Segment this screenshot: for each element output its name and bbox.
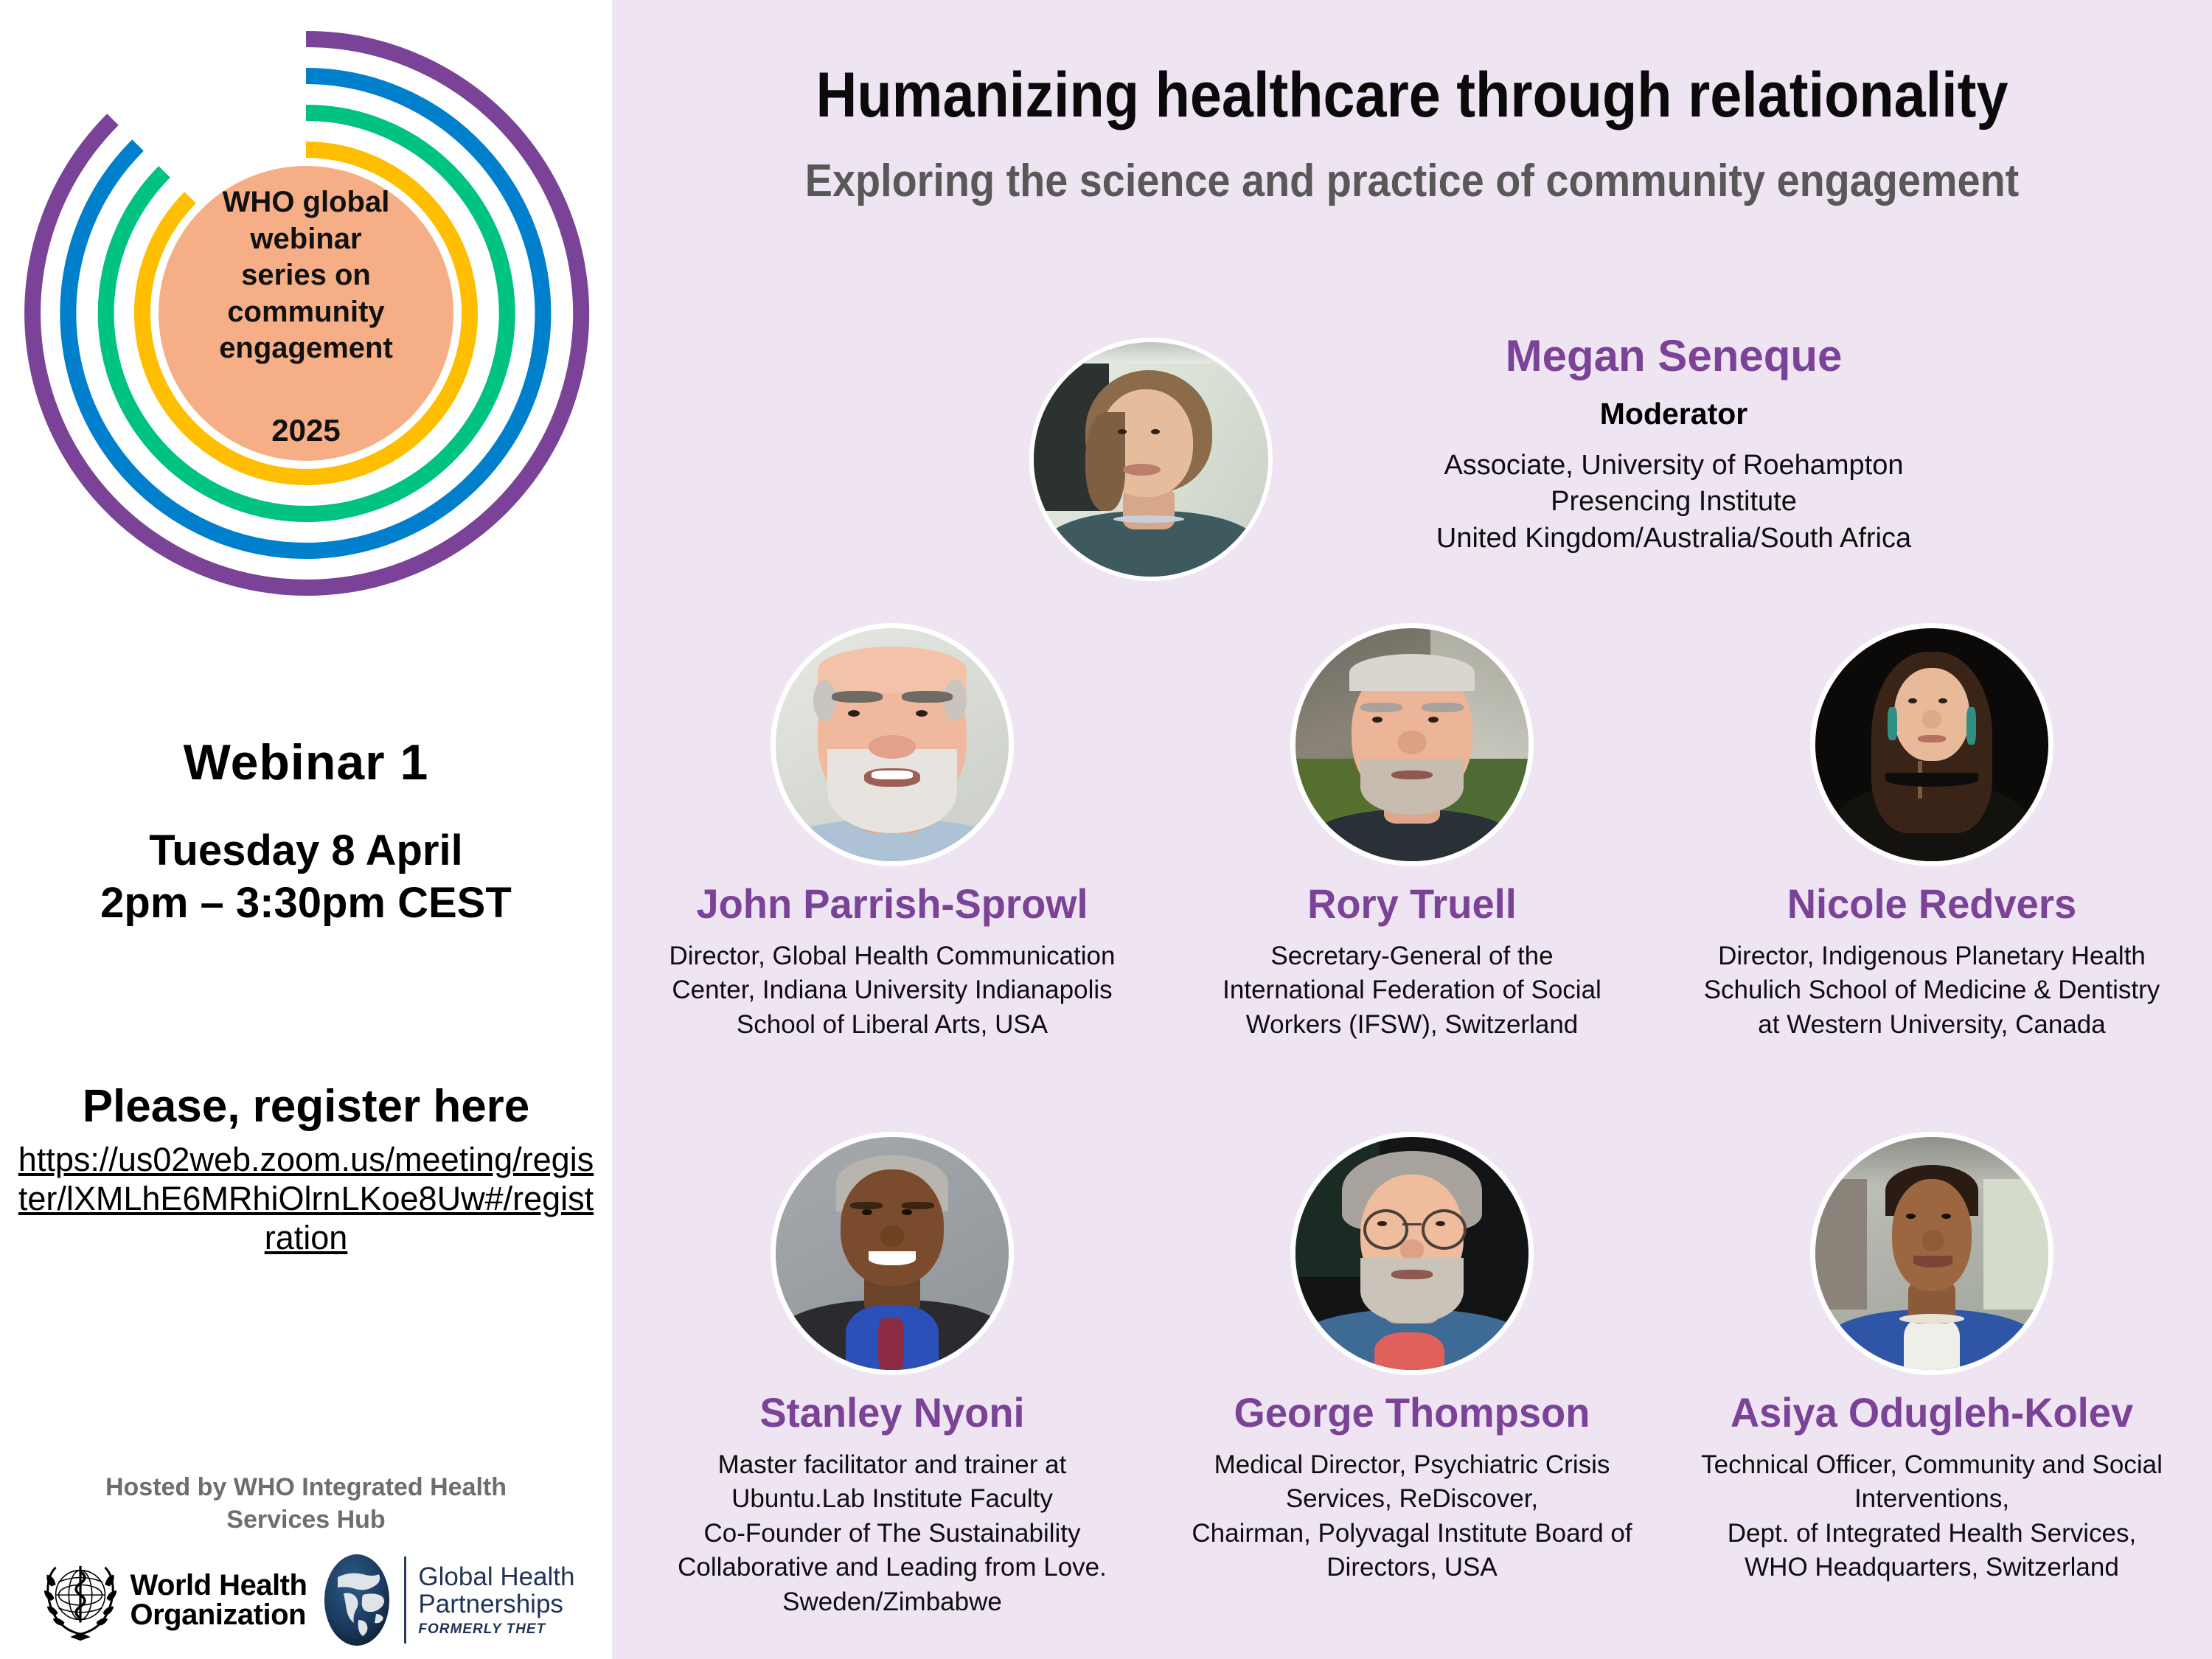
speaker-name: Asiya Odugleh-Kolev xyxy=(1682,1391,2183,1435)
speaker-affiliation: Technical Officer, Community and Social … xyxy=(1674,1448,2190,1585)
right-panel: Humanizing healthcare through relational… xyxy=(612,0,2212,1659)
speaker-name: Rory Truell xyxy=(1162,883,1663,926)
speaker-card: Stanley Nyoni Master facilitator and tra… xyxy=(634,1132,1150,1620)
moderator-affiliation: Associate, University of Roehampton Pres… xyxy=(1290,448,2057,557)
speaker-affiliation-line-3: Co-Founder of The Sustainability xyxy=(641,1517,1143,1551)
page-subtitle: Exploring the science and practice of co… xyxy=(692,155,2132,207)
ghp-line-1: Global Health xyxy=(418,1563,574,1590)
speaker-name: George Thompson xyxy=(1162,1391,1663,1435)
moderator-affiliation-line-1: Associate, University of Roehampton xyxy=(1290,448,2057,484)
speaker-card: Nicole Redvers Director, Indigenous Plan… xyxy=(1674,623,2190,1042)
speaker-card: George Thompson Medical Director, Psychi… xyxy=(1154,1132,1670,1585)
webinar-datetime: Tuesday 8 April 2pm – 3:30pm CEST xyxy=(0,825,612,930)
speaker-affiliation: Master facilitator and trainer at Ubuntu… xyxy=(634,1448,1150,1620)
speaker-affiliation-line-3: Chairman, Polyvagal Institute Board of xyxy=(1161,1517,1663,1551)
speaker-affiliation-line-4: Collaborative and Leading from Love. xyxy=(641,1551,1143,1585)
speaker-card: John Parrish-Sprowl Director, Global Hea… xyxy=(634,623,1150,1042)
globe-icon xyxy=(321,1552,392,1648)
register-heading: Please, register here xyxy=(0,1080,612,1133)
logo-text-line-5: engagement xyxy=(159,330,453,367)
speaker-affiliation-line-1: Medical Director, Psychiatric Crisis xyxy=(1161,1448,1663,1483)
ghp-line-2: Partnerships xyxy=(418,1590,574,1618)
speaker-affiliation-line-2: Ubuntu.Lab Institute Faculty xyxy=(641,1482,1143,1517)
logo-text-line-3: series on xyxy=(159,257,453,294)
speaker-affiliation-line-2: Interventions, xyxy=(1681,1482,2183,1517)
moderator-role: Moderator xyxy=(1290,397,2057,431)
moderator-name: Megan Seneque xyxy=(1290,332,2057,380)
page-title: Humanizing healthcare through relational… xyxy=(692,59,2132,132)
webinar-number: Webinar 1 xyxy=(0,734,612,791)
speaker-name: John Parrish-Sprowl xyxy=(642,883,1143,926)
who-emblem-icon xyxy=(37,1553,124,1647)
speaker-name: Stanley Nyoni xyxy=(642,1391,1143,1435)
ghp-wordmark: Global Health Partnerships FORMERLY THET xyxy=(418,1563,574,1638)
partner-logos: World Health Organization xyxy=(0,1552,612,1648)
logo-text-line-1: WHO global xyxy=(159,184,453,221)
left-panel: WHO global webinar series on community e… xyxy=(0,0,612,1659)
hosted-by-text: Hosted by WHO Integrated Health Services… xyxy=(0,1471,612,1536)
speaker-affiliation-line-2: Center, Indiana University Indianapolis xyxy=(641,973,1143,1008)
ghp-tagline: FORMERLY THET xyxy=(418,1621,574,1638)
registration-block: Please, register here https://us02web.zo… xyxy=(0,1080,612,1257)
logo-text-line-2: webinar xyxy=(159,221,453,258)
speaker-photo xyxy=(771,1132,1014,1375)
logo-divider xyxy=(404,1557,406,1644)
speaker-name: Nicole Redvers xyxy=(1682,883,2183,926)
webinar-poster: WHO global webinar series on community e… xyxy=(0,0,2212,1659)
speaker-affiliation-line-2: Schulich School of Medicine & Dentistry xyxy=(1681,973,2183,1008)
moderator-info: Megan Seneque Moderator Associate, Unive… xyxy=(1290,332,2057,557)
who-wordmark-line-2: Organization xyxy=(130,1600,307,1630)
hosted-by-block: Hosted by WHO Integrated Health Services… xyxy=(0,1471,612,1648)
speaker-photo xyxy=(1290,1132,1534,1375)
registration-link[interactable]: https://us02web.zoom.us/meeting/register… xyxy=(15,1140,597,1257)
who-wordmark: World Health Organization xyxy=(130,1571,307,1631)
speaker-affiliation-line-3: Workers (IFSW), Switzerland xyxy=(1161,1008,1663,1043)
webinar-date: Tuesday 8 April xyxy=(0,825,612,877)
speaker-affiliation: Director, Global Health Communication Ce… xyxy=(634,939,1150,1043)
speaker-affiliation-line-3: at Western University, Canada xyxy=(1681,1008,2183,1043)
who-wordmark-line-1: World Health xyxy=(130,1571,307,1601)
speaker-photo xyxy=(1810,1132,2053,1375)
speaker-affiliation-line-5: Sweden/Zimbabwe xyxy=(641,1585,1143,1620)
speaker-affiliation: Director, Indigenous Planetary Health Sc… xyxy=(1674,939,2190,1043)
speaker-affiliation-line-3: School of Liberal Arts, USA xyxy=(641,1008,1143,1043)
logo-year: 2025 xyxy=(159,413,453,448)
speaker-affiliation-line-1: Secretary-General of the xyxy=(1161,939,1663,974)
speaker-affiliation: Medical Director, Psychiatric Crisis Ser… xyxy=(1154,1448,1670,1585)
speaker-affiliation-line-1: Director, Global Health Communication xyxy=(641,939,1143,974)
speaker-affiliation-line-2: International Federation of Social xyxy=(1161,973,1663,1008)
webinar-series-logo: WHO global webinar series on community e… xyxy=(18,18,594,608)
speaker-affiliation-line-1: Director, Indigenous Planetary Health xyxy=(1681,939,2183,974)
speaker-affiliation-line-4: WHO Headquarters, Switzerland xyxy=(1681,1551,2183,1585)
moderator-block: Megan Seneque Moderator Associate, Unive… xyxy=(612,324,2212,605)
speaker-affiliation-line-1: Master facilitator and trainer at xyxy=(641,1448,1143,1483)
moderator-affiliation-line-2: Presencing Institute xyxy=(1290,484,2057,520)
hosted-by-line-2: Services Hub xyxy=(0,1503,612,1536)
speaker-affiliation-line-4: Directors, USA xyxy=(1161,1551,1663,1585)
speaker-card: Rory Truell Secretary-General of the Int… xyxy=(1154,623,1670,1042)
hosted-by-line-1: Hosted by WHO Integrated Health xyxy=(0,1471,612,1503)
speaker-photo xyxy=(771,623,1014,866)
speakers-grid: John Parrish-Sprowl Director, Global Hea… xyxy=(612,623,2212,1659)
moderator-affiliation-line-3: United Kingdom/Australia/South Africa xyxy=(1290,521,2057,557)
logo-text-line-4: community xyxy=(159,294,453,331)
webinar-time: 2pm – 3:30pm CEST xyxy=(0,877,612,930)
webinar-info: Webinar 1 Tuesday 8 April 2pm – 3:30pm C… xyxy=(0,734,612,930)
speaker-photo xyxy=(1810,623,2053,866)
speaker-affiliation-line-1: Technical Officer, Community and Social xyxy=(1681,1448,2183,1483)
speaker-affiliation-line-3: Dept. of Integrated Health Services, xyxy=(1681,1517,2183,1551)
logo-center-text: WHO global webinar series on community e… xyxy=(159,184,453,367)
speaker-affiliation-line-2: Services, ReDiscover, xyxy=(1161,1482,1663,1517)
speaker-card: Asiya Odugleh-Kolev Technical Officer, C… xyxy=(1674,1132,2190,1585)
speaker-affiliation: Secretary-General of the International F… xyxy=(1154,939,1670,1043)
speaker-photo xyxy=(1290,623,1534,866)
moderator-photo xyxy=(1029,338,1273,581)
